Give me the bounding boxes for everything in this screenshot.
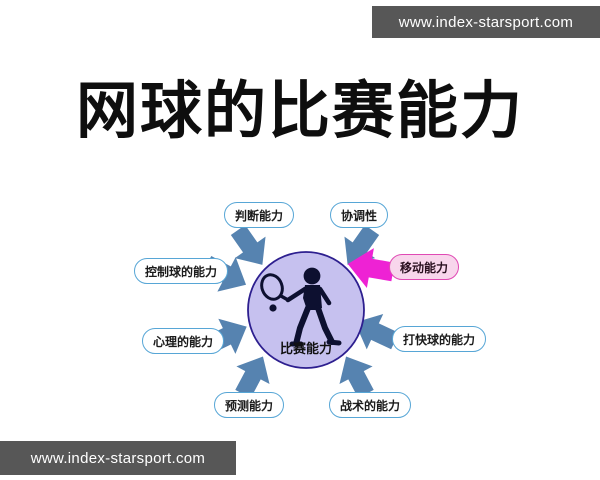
node-fast-ball-ability[interactable]: 打快球的能力 bbox=[392, 326, 486, 352]
node-ball-control-ability[interactable]: 控制球的能力 bbox=[134, 258, 228, 284]
node-mental-ability[interactable]: 心理的能力 bbox=[142, 328, 224, 354]
watermark-bottom-text: www.index-starsport.com bbox=[31, 450, 205, 467]
node-movement-ability[interactable]: 移动能力 bbox=[389, 254, 459, 280]
center-label: 比赛能力 bbox=[266, 338, 346, 357]
watermark-bottom: www.index-starsport.com bbox=[0, 441, 236, 475]
node-coordination[interactable]: 协调性 bbox=[330, 202, 388, 228]
node-judgment-ability[interactable]: 判断能力 bbox=[224, 202, 294, 228]
watermark-top: www.index-starsport.com bbox=[372, 6, 600, 38]
node-tactical-ability[interactable]: 战术的能力 bbox=[329, 392, 411, 418]
page-title: 网球的比赛能力 bbox=[0, 78, 600, 143]
watermark-top-text: www.index-starsport.com bbox=[399, 14, 573, 31]
capability-diagram: 比赛能力 判断能力 协调性 控制球的能力 移动能力 心理的能力 打快球的能力 预… bbox=[0, 186, 600, 436]
node-prediction-ability[interactable]: 预测能力 bbox=[214, 392, 284, 418]
diagram-graphics bbox=[0, 186, 600, 436]
